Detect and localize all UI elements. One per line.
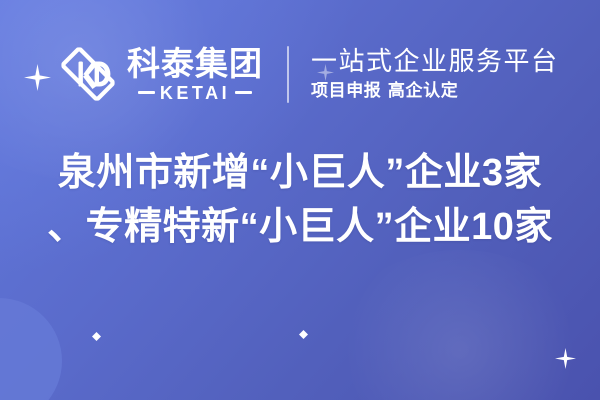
tagline-block: 一站式企业服务平台 项目申报 高企认定 (311, 46, 559, 102)
brand-name-cn: 科泰集团 (127, 47, 263, 81)
promo-banner: 科泰集团 KETAI 一站式企业服务平台 项目申报 高企认定 泉州市新增“小巨人… (0, 0, 600, 400)
brand-header: 科泰集团 KETAI 一站式企业服务平台 项目申报 高企认定 (58, 38, 559, 110)
rule-right (235, 91, 252, 94)
sparkle-icon (24, 64, 51, 91)
ketai-logo-icon (58, 44, 118, 104)
brand-wordmark: 科泰集团 KETAI (127, 47, 263, 102)
circle-blob (0, 298, 62, 400)
headline-line-2: 、专精特新“小巨人”企业10家 (0, 200, 600, 254)
tagline-primary: 一站式企业服务平台 (311, 46, 559, 77)
brand-name-en-row: KETAI (138, 84, 252, 102)
diamond-dot-icon (299, 330, 308, 339)
background-glow-bottom-right (330, 250, 590, 400)
sparkle-icon (555, 348, 576, 369)
vertical-divider (287, 46, 289, 103)
tagline-secondary: 项目申报 高企认定 (311, 80, 559, 102)
brand-name-en: KETAI (160, 84, 230, 102)
rule-left (138, 91, 155, 94)
diamond-dot-icon (92, 332, 101, 341)
headline-line-1: 泉州市新增“小巨人”企业3家 (0, 146, 600, 200)
headline: 泉州市新增“小巨人”企业3家 、专精特新“小巨人”企业10家 (0, 146, 600, 254)
